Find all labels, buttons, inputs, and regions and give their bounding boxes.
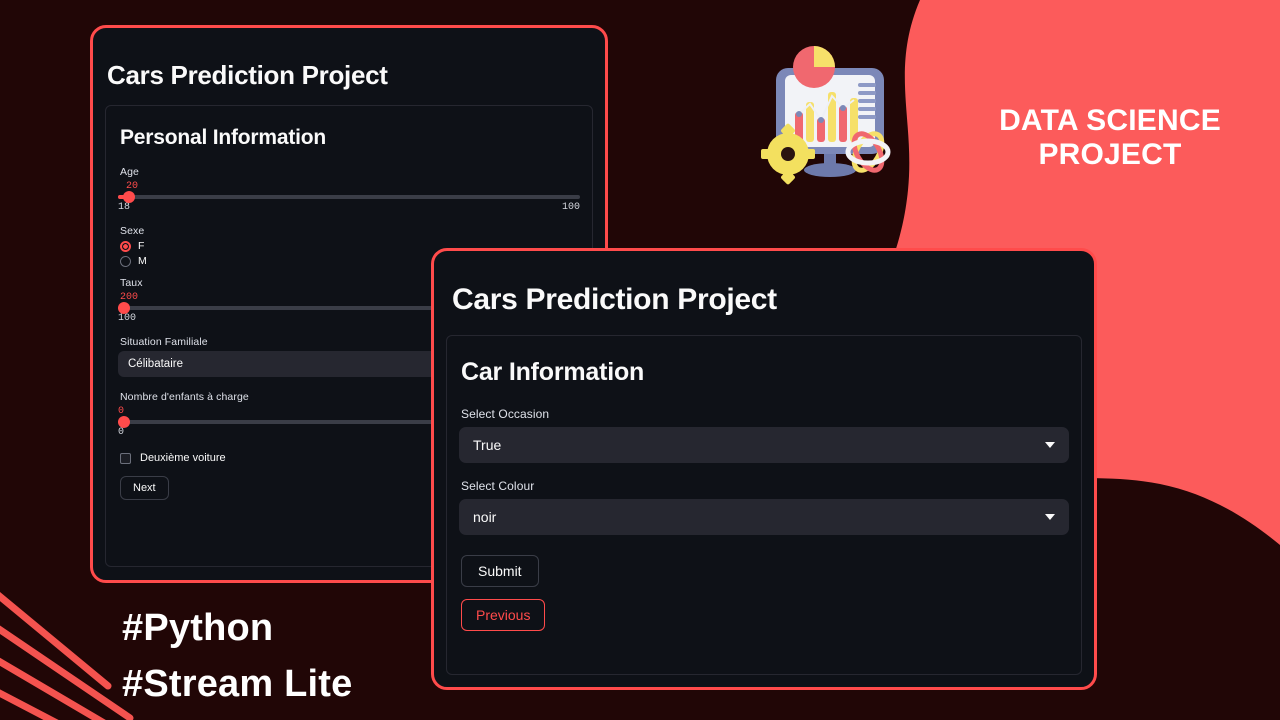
select-colour-group[interactable]: Select Colour noir [459,479,1069,535]
poster-headline: DATA SCIENCE PROJECT [960,104,1260,171]
select-occasion-label: Select Occasion [461,407,1069,421]
age-label: Age [120,166,580,178]
age-slider-thumb[interactable] [123,191,135,203]
select-occasion-value: True [473,437,501,453]
hashtag-streamlit: #Stream Lite [122,656,353,712]
age-value: 20 [126,181,580,192]
sexe-option-f-label: F [138,240,144,252]
radio-f-icon[interactable] [120,241,131,252]
submit-button[interactable]: Submit [461,555,539,587]
chevron-down-icon[interactable] [1045,514,1055,520]
select-colour-value: noir [473,509,496,525]
taux-min: 100 [118,313,136,324]
window-personal-title: Cars Prediction Project [107,60,605,91]
window-car-title: Cars Prediction Project [452,283,1094,317]
sexe-option-m-label: M [138,255,147,267]
taux-slider-thumb[interactable] [118,302,130,314]
age-min: 18 [118,202,130,213]
enfants-min: 0 [118,427,124,438]
car-panel-heading: Car Information [461,358,1069,387]
enfants-slider-thumb[interactable] [118,416,130,428]
select-occasion-group[interactable]: Select Occasion True [459,407,1069,463]
headline-line-2: PROJECT [960,138,1260,172]
poster-hashtags: #Python #Stream Lite [122,600,353,712]
data-dashboard-3d-illustration [752,42,912,190]
chevron-down-icon[interactable] [1045,442,1055,448]
radio-m-icon[interactable] [120,256,131,267]
deuxieme-voiture-label: Deuxième voiture [140,452,226,464]
personal-panel-heading: Personal Information [120,126,580,150]
window-car-information: Cars Prediction Project Car Information … [431,248,1097,690]
age-slider-track[interactable] [118,195,580,199]
select-colour-label: Select Colour [461,479,1069,493]
deuxieme-voiture-checkbox[interactable] [120,453,131,464]
hashtag-python: #Python [122,600,353,656]
age-max: 100 [562,202,580,213]
car-information-panel: Car Information Select Occasion True Sel… [446,335,1082,675]
select-colour-dropdown[interactable]: noir [459,499,1069,535]
select-occasion-dropdown[interactable]: True [459,427,1069,463]
next-button[interactable]: Next [120,476,169,500]
previous-button[interactable]: Previous [461,599,545,631]
poster-stage: Cars Prediction Project Personal Informa… [0,0,1280,720]
age-slider-group[interactable]: Age 20 18 100 [118,166,580,213]
headline-line-1: DATA SCIENCE [960,104,1260,138]
sexe-label: Sexe [120,225,580,237]
situation-familiale-value: Célibataire [128,358,183,370]
